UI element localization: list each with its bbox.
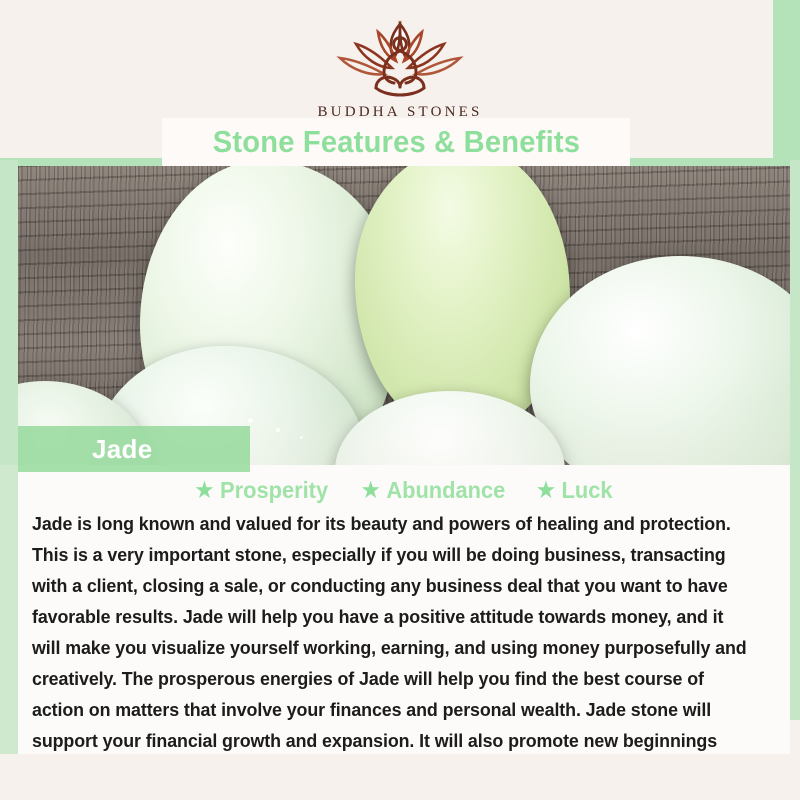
star-icon: ★ xyxy=(195,480,213,501)
content-panel: ★ Prosperity ★ Abundance ★ Luck Jade is … xyxy=(18,465,790,755)
decorative-frame-left-strip-lower xyxy=(0,465,18,755)
benefits-row: ★ Prosperity ★ Abundance ★ Luck xyxy=(32,477,774,504)
star-icon: ★ xyxy=(361,480,379,501)
benefit-prosperity: ★ Prosperity xyxy=(195,477,328,504)
page-title: Stone Features & Benefits xyxy=(212,124,579,160)
decorative-frame-right-strip xyxy=(790,160,800,720)
benefit-label: Luck xyxy=(561,477,612,504)
benefit-label: Abundance xyxy=(386,477,505,504)
benefit-abundance: ★ Abundance xyxy=(361,477,505,504)
decorative-frame-bottom xyxy=(0,754,800,800)
benefit-label: Prosperity xyxy=(220,477,328,504)
brand-logo: BUDDHA STONES xyxy=(0,18,800,121)
benefit-luck: ★ Luck xyxy=(537,477,613,504)
stone-name-tag: Jade xyxy=(18,426,250,472)
title-banner: Stone Features & Benefits xyxy=(162,118,630,166)
photo-veil xyxy=(0,166,800,465)
stone-description: Jade is long known and valued for its be… xyxy=(32,508,752,787)
stone-photo xyxy=(0,166,800,465)
lotus-meditation-icon xyxy=(326,18,474,100)
stone-name-label: Jade xyxy=(92,434,152,465)
star-icon: ★ xyxy=(537,480,555,501)
